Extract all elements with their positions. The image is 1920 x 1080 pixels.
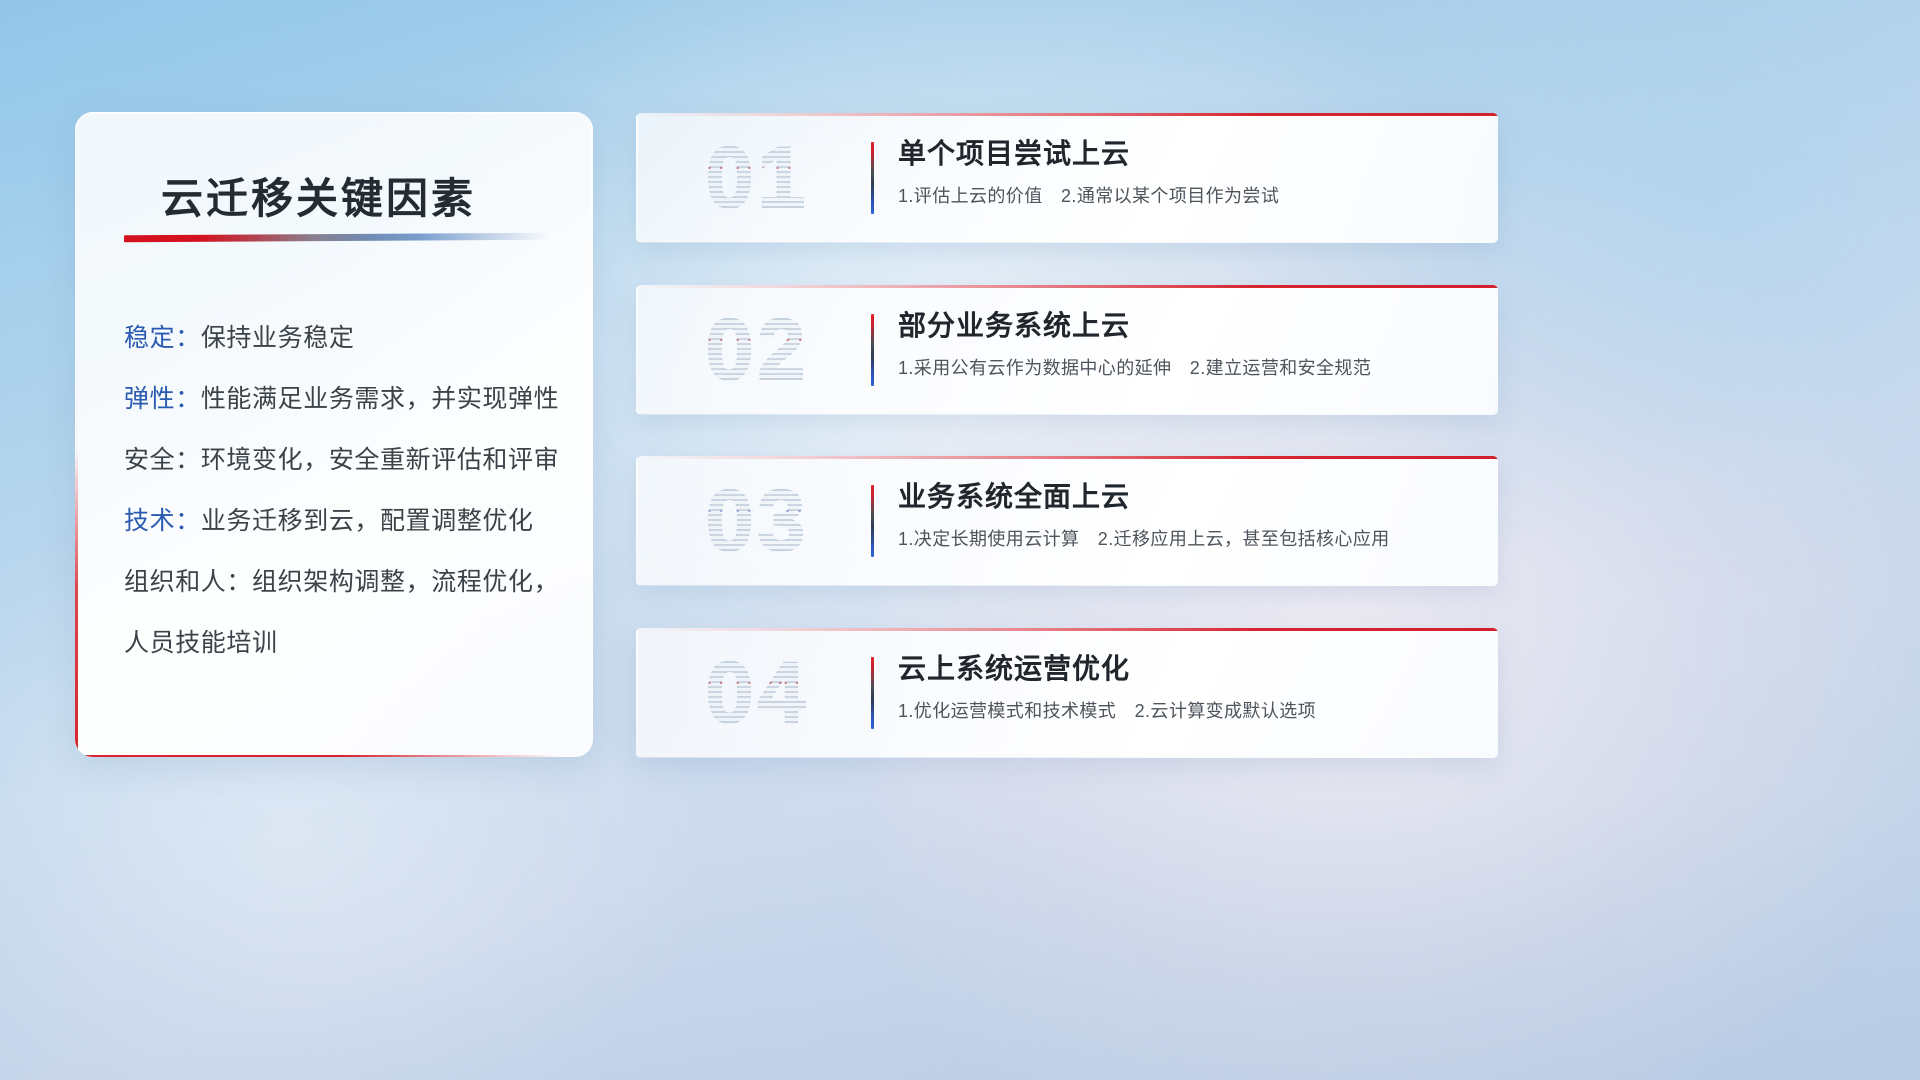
list-item-label: 技术： [124,507,201,535]
card-top-red-line [636,285,1498,288]
card-bottom-shadow [636,757,1498,759]
list-item-text: 组织架构调整，流程优化， [252,568,559,596]
slide-stage: 云迁移关键因素 稳定：保持业务稳定 弹性：性能满足业务需求，并实现弹性 安全：环… [0,0,1920,1080]
panel-left-red-accent [75,447,78,757]
card-title: 业务系统全面上云 [898,476,1480,518]
card-body: 单个项目尝试上云 1.评估上云的价值 2.通常以某个项目作为尝试 [898,133,1480,209]
card-bottom-shadow [636,585,1498,587]
page-title: 云迁移关键因素 [161,165,476,226]
card-left-highlight [636,456,638,586]
card-bottom-shadow [636,414,1498,416]
key-factors-list: 稳定：保持业务稳定 弹性：性能满足业务需求，并实现弹性 安全：环境变化，安全重新… [124,308,567,674]
step-number-glyph: 03 [660,464,855,578]
list-item: 弹性：性能满足业务需求，并实现弹性 [124,369,567,430]
list-item-text: 保持业务稳定 [201,324,355,352]
list-item-text: 性能满足业务需求，并实现弹性 [201,385,559,413]
list-item-label: 稳定： [124,324,201,352]
key-factors-panel: 云迁移关键因素 稳定：保持业务稳定 弹性：性能满足业务需求，并实现弹性 安全：环… [75,112,593,757]
list-item: 组织和人：组织架构调整，流程优化， [124,552,567,613]
list-item: 技术：业务迁移到云，配置调整优化 [124,491,567,552]
step-number-glyph: 04 [660,636,855,750]
list-item-text: 业务迁移到云，配置调整优化 [201,507,534,535]
step-card-03[interactable]: 03 03 业务系统全面上云 1.决定长期使用云计算 2.迁移应用上云，甚至包括… [636,456,1498,586]
step-card-02[interactable]: 02 02 部分业务系统上云 1.采用公有云作为数据中心的延伸 2.建立运营和安… [636,285,1498,415]
card-top-red-line [636,628,1498,631]
card-description: 1.评估上云的价值 2.通常以某个项目作为尝试 [898,183,1480,209]
card-body: 业务系统全面上云 1.决定长期使用云计算 2.迁移应用上云，甚至包括核心应用 [898,476,1480,552]
list-item-text: 环境变化，安全重新评估和评审 [201,446,559,474]
list-item-text: 人员技能培训 [124,629,278,657]
panel-right-highlight [591,112,593,641]
list-item-continuation: 人员技能培训 [124,613,567,674]
list-item: 安全：环境变化，安全重新评估和评审 [124,430,567,491]
card-title: 单个项目尝试上云 [898,133,1480,175]
step-card-04[interactable]: 04 04 云上系统运营优化 1.优化运营模式和技术模式 2.云计算变成默认选项 [636,628,1498,758]
card-left-highlight [636,628,638,758]
list-item-label: 组织和人： [124,568,252,596]
card-left-highlight [636,113,638,243]
card-accent-divider [871,142,874,214]
card-accent-divider [871,657,874,729]
card-title: 云上系统运营优化 [898,648,1480,690]
list-item: 稳定：保持业务稳定 [124,308,567,369]
card-body: 云上系统运营优化 1.优化运营模式和技术模式 2.云计算变成默认选项 [898,648,1480,724]
list-item-label: 安全： [124,446,201,474]
card-accent-divider [871,314,874,386]
card-top-red-line [636,456,1498,459]
card-bottom-shadow [636,242,1498,244]
card-left-highlight [636,285,638,415]
card-description: 1.采用公有云作为数据中心的延伸 2.建立运营和安全规范 [898,355,1480,381]
card-description: 1.优化运营模式和技术模式 2.云计算变成默认选项 [898,698,1480,724]
step-number-glyph: 02 [660,293,855,407]
card-description: 1.决定长期使用云计算 2.迁移应用上云，甚至包括核心应用 [898,526,1480,552]
step-card-01[interactable]: 01 01 单个项目尝试上云 1.评估上云的价值 2.通常以某个项目作为尝试 [636,113,1498,243]
title-gradient-underline [124,233,549,243]
card-body: 部分业务系统上云 1.采用公有云作为数据中心的延伸 2.建立运营和安全规范 [898,305,1480,381]
card-accent-divider [871,485,874,557]
card-title: 部分业务系统上云 [898,305,1480,347]
panel-bottom-red-accent [75,755,562,758]
panel-top-highlight [75,112,593,114]
card-top-red-line [636,113,1498,116]
list-item-label: 弹性： [124,385,201,413]
step-number-glyph: 01 [660,121,855,235]
